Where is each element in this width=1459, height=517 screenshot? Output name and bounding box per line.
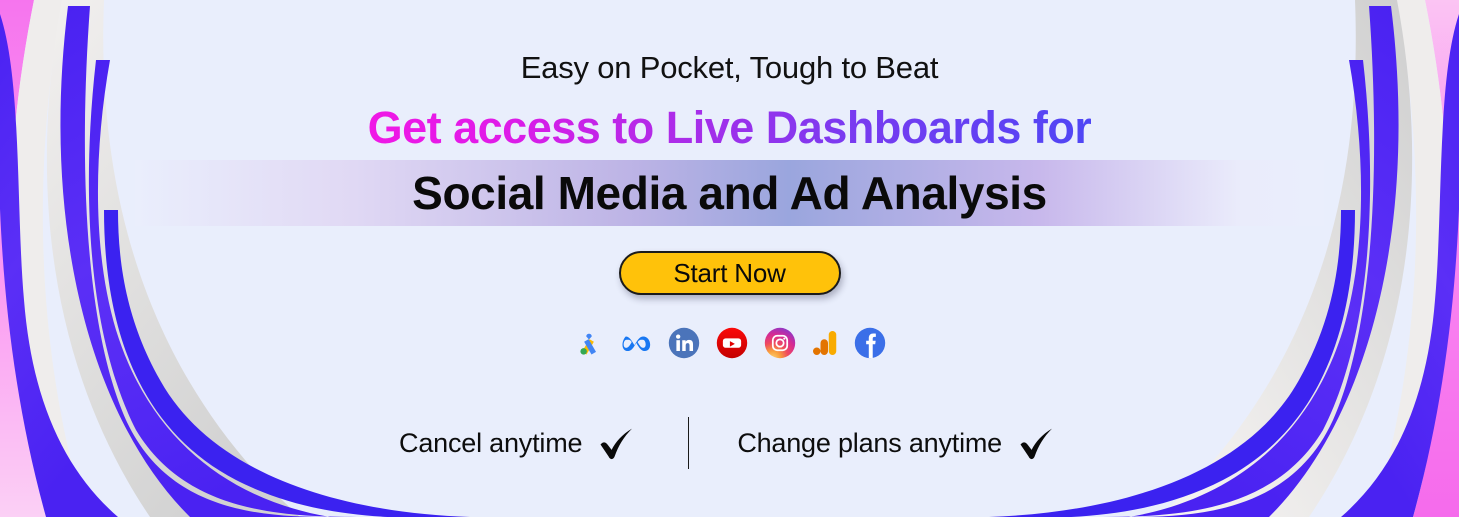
assurance-row: Cancel anytime Change plans anytime bbox=[399, 417, 1060, 469]
meta-icon[interactable] bbox=[620, 328, 652, 358]
promo-banner: Easy on Pocket, Tough to Beat Get access… bbox=[0, 0, 1459, 517]
instagram-icon[interactable] bbox=[764, 327, 796, 359]
start-now-button[interactable]: Start Now bbox=[619, 251, 841, 295]
integration-logos bbox=[574, 327, 886, 359]
check-mark-icon bbox=[1016, 421, 1060, 465]
facebook-icon[interactable] bbox=[854, 327, 886, 359]
youtube-icon[interactable] bbox=[716, 327, 748, 359]
assurance-cancel: Cancel anytime bbox=[399, 421, 688, 465]
headline-primary: Get access to Live Dashboards for bbox=[368, 100, 1092, 156]
google-analytics-icon[interactable] bbox=[812, 328, 838, 358]
assurance-change-plans-label: Change plans anytime bbox=[737, 428, 1002, 459]
eyebrow-text: Easy on Pocket, Tough to Beat bbox=[521, 48, 939, 88]
assurance-change-plans: Change plans anytime bbox=[689, 421, 1060, 465]
headline-highlight-wrap: Social Media and Ad Analysis bbox=[0, 160, 1459, 226]
google-ads-icon[interactable] bbox=[574, 328, 604, 358]
headline-secondary: Social Media and Ad Analysis bbox=[0, 160, 1459, 226]
assurance-cancel-label: Cancel anytime bbox=[399, 428, 582, 459]
check-mark-icon bbox=[596, 421, 640, 465]
cta-row: Start Now bbox=[619, 251, 841, 295]
linkedin-icon[interactable] bbox=[668, 327, 700, 359]
